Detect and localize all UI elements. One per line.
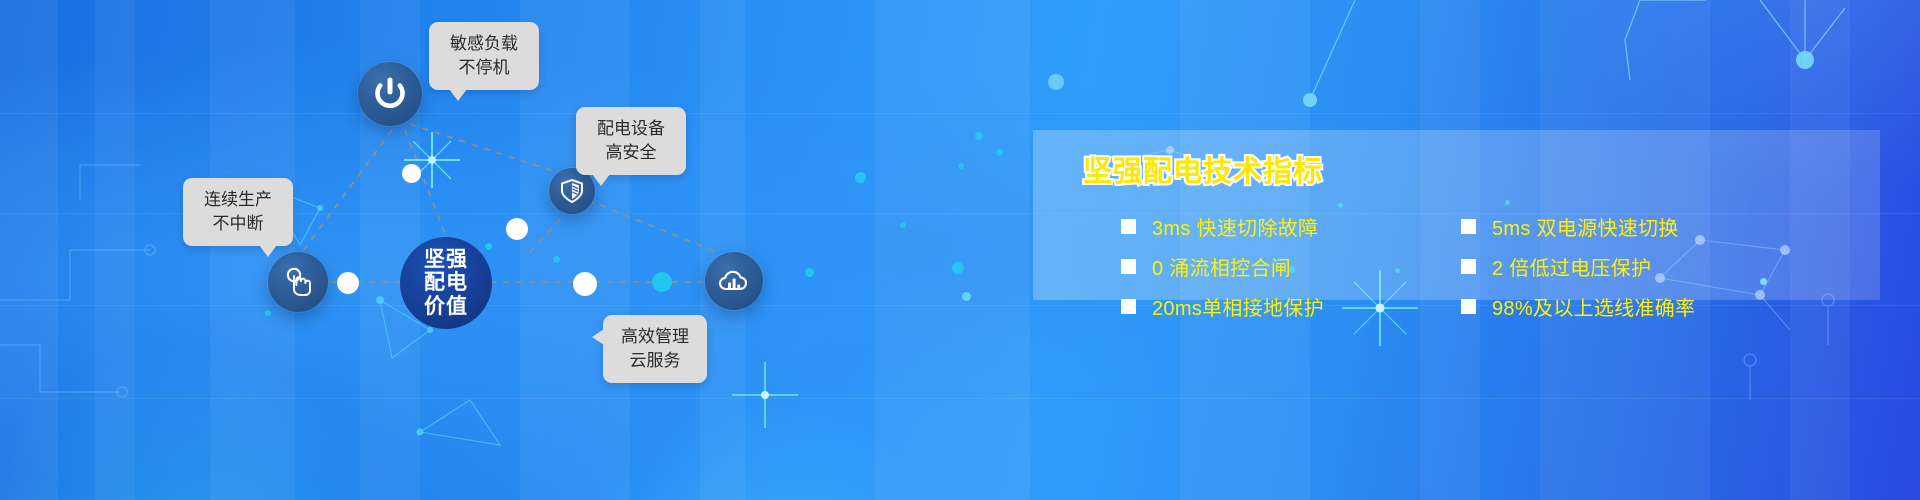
decorative-dot xyxy=(553,256,560,263)
hand-touch-icon xyxy=(281,265,315,299)
indicator-item[interactable]: 0 涌流相控合闸 xyxy=(1121,246,1421,286)
indicator-text: 5ms 双电源快速切换 xyxy=(1492,212,1679,241)
center-hub[interactable]: 坚强 配电 价值 xyxy=(400,237,492,329)
cloud-chart-icon xyxy=(717,264,751,298)
callout-sensitive-load[interactable]: 敏感负载 不停机 xyxy=(429,22,539,90)
decorative-dot xyxy=(975,132,983,140)
indicator-text: 3ms 快速切除故障 xyxy=(1152,212,1318,241)
decorative-dot xyxy=(855,172,866,183)
callout-tail xyxy=(592,174,610,186)
bullet-square-icon xyxy=(1461,219,1476,234)
tech-indicator-panel: 坚强配电技术指标 3ms 快速切除故障 5ms 双电源快速切换 0 涌流相控合闸… xyxy=(1033,130,1880,300)
decorative-dot xyxy=(952,262,964,274)
indicator-text: 98%及以上选线准确率 xyxy=(1492,292,1695,321)
connector-marker xyxy=(506,218,528,240)
indicator-list: 3ms 快速切除故障 5ms 双电源快速切换 0 涌流相控合闸 2 倍低过电压保… xyxy=(1121,206,1841,326)
panel-title: 坚强配电技术指标 xyxy=(1083,148,1323,190)
connector-marker xyxy=(337,272,359,294)
decorative-dot xyxy=(900,222,906,228)
panel-title-text: 坚强配电技术指标 xyxy=(1083,156,1323,188)
node-cloud-chart[interactable] xyxy=(705,252,763,310)
callout-line-1: 高效管理 xyxy=(619,325,691,349)
shield-icon xyxy=(559,178,585,204)
decorative-dot xyxy=(652,272,672,292)
indicator-item[interactable]: 20ms单相接地保护 xyxy=(1121,286,1421,326)
banner-stage: 坚强 配电 价值 敏感负载 不停机 配电设备 高安全 连续生产 不中断 高效管理… xyxy=(0,0,1920,500)
indicator-item[interactable]: 98%及以上选线准确率 xyxy=(1461,286,1761,326)
decorative-dot xyxy=(996,149,1003,156)
decorative-dot xyxy=(958,163,964,169)
callout-line-2: 不停机 xyxy=(445,56,523,80)
indicator-text: 20ms单相接地保护 xyxy=(1152,292,1324,321)
callout-line-2: 不中断 xyxy=(199,212,277,236)
bullet-square-icon xyxy=(1461,299,1476,314)
callout-distribution-safety[interactable]: 配电设备 高安全 xyxy=(576,107,686,175)
node-power-button[interactable] xyxy=(358,62,422,126)
callout-tail xyxy=(449,89,467,101)
decorative-dot xyxy=(962,292,971,301)
callout-cloud-management[interactable]: 高效管理 云服务 xyxy=(603,315,707,383)
callout-continuous-production[interactable]: 连续生产 不中断 xyxy=(183,178,293,246)
connector-marker xyxy=(573,272,597,296)
callout-tail xyxy=(592,329,604,345)
bullet-square-icon xyxy=(1121,299,1136,314)
glow-bottom-left xyxy=(0,350,420,500)
bullet-square-icon xyxy=(1121,219,1136,234)
indicator-item[interactable]: 5ms 双电源快速切换 xyxy=(1461,206,1761,246)
indicator-text: 2 倍低过电压保护 xyxy=(1492,252,1651,281)
callout-line-1: 配电设备 xyxy=(592,117,670,141)
bullet-square-icon xyxy=(1461,259,1476,274)
callout-line-2: 高安全 xyxy=(592,141,670,165)
glow-bottom-center xyxy=(560,390,980,500)
indicator-text: 0 涌流相控合闸 xyxy=(1152,252,1291,281)
decorative-dot xyxy=(485,243,492,250)
hub-line-3: 价值 xyxy=(424,295,468,319)
bullet-square-icon xyxy=(1121,259,1136,274)
decorative-dot xyxy=(805,268,814,277)
power-button-icon xyxy=(372,76,408,112)
connector-marker xyxy=(402,164,421,183)
hub-line-2: 配电 xyxy=(424,271,468,295)
node-touch[interactable] xyxy=(268,252,328,312)
decorative-dot xyxy=(265,310,271,316)
callout-line-2: 云服务 xyxy=(619,349,691,373)
callout-line-1: 敏感负载 xyxy=(445,32,523,56)
hub-line-1: 坚强 xyxy=(424,248,468,272)
indicator-item[interactable]: 3ms 快速切除故障 xyxy=(1121,206,1421,246)
indicator-item[interactable]: 2 倍低过电压保护 xyxy=(1461,246,1761,286)
callout-tail xyxy=(259,245,277,257)
callout-line-1: 连续生产 xyxy=(199,188,277,212)
